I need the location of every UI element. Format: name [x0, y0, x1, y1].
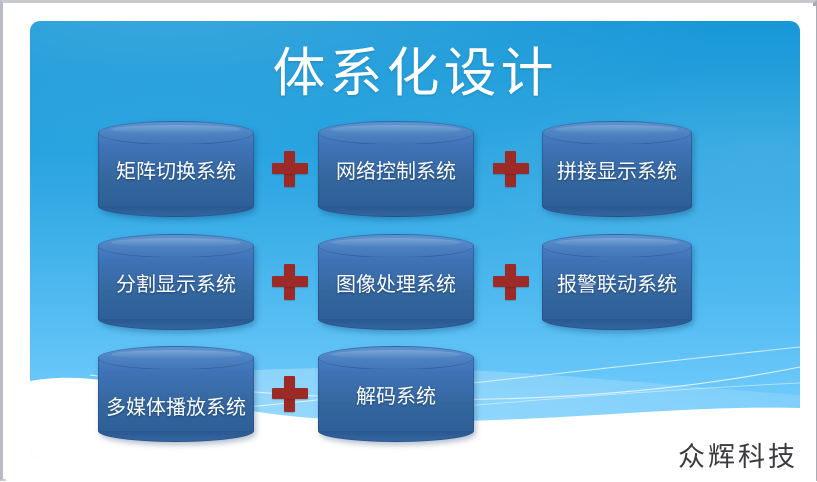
slide-canvas: 体系化设计 矩阵切换系统 [30, 21, 800, 459]
system-node-label: 拼接显示系统 [542, 121, 692, 217]
system-node[interactable]: 矩阵切换系统 [98, 121, 254, 217]
cylinder-shape: 解码系统 [318, 346, 474, 442]
cylinder-shape: 分割显示系统 [98, 234, 254, 330]
system-node[interactable]: 报警联动系统 [542, 234, 692, 330]
cylinder-shape: 多媒体播放系统 [98, 346, 254, 442]
diagram-row-3: 多媒体播放系统 解码系统 [30, 346, 800, 442]
plus-icon [493, 151, 529, 187]
plus-icon [272, 264, 308, 300]
system-node[interactable]: 多媒体播放系统 [98, 346, 254, 442]
diagram-row-1: 矩阵切换系统 网络控制系统 [30, 121, 800, 217]
cylinder-shape: 图像处理系统 [318, 234, 474, 330]
system-node-label: 解码系统 [318, 346, 474, 442]
plus-icon [493, 264, 529, 300]
cylinder-shape: 矩阵切换系统 [98, 121, 254, 217]
plus-icon [272, 151, 308, 187]
system-node[interactable]: 分割显示系统 [98, 234, 254, 330]
plus-icon [272, 376, 308, 412]
system-node-label: 分割显示系统 [98, 234, 254, 330]
system-node[interactable]: 拼接显示系统 [542, 121, 692, 217]
system-node[interactable]: 图像处理系统 [318, 234, 474, 330]
system-node-label: 矩阵切换系统 [98, 121, 254, 217]
diagram-row-2: 分割显示系统 图像处理系统 [30, 234, 800, 330]
cylinder-shape: 拼接显示系统 [542, 121, 692, 217]
cylinder-shape: 网络控制系统 [318, 121, 474, 217]
system-node[interactable]: 网络控制系统 [318, 121, 474, 217]
system-node-label: 网络控制系统 [318, 121, 474, 217]
window-frame: 体系化设计 矩阵切换系统 [0, 0, 817, 481]
system-node-label: 图像处理系统 [318, 234, 474, 330]
system-node[interactable]: 解码系统 [318, 346, 474, 442]
system-diagram: 矩阵切换系统 网络控制系统 [30, 21, 800, 459]
company-logo: 众辉科技 [678, 435, 798, 474]
system-node-label: 报警联动系统 [542, 234, 692, 330]
system-node-label: 多媒体播放系统 [98, 346, 254, 442]
cylinder-shape: 报警联动系统 [542, 234, 692, 330]
slide-paper: 体系化设计 矩阵切换系统 [6, 6, 816, 482]
